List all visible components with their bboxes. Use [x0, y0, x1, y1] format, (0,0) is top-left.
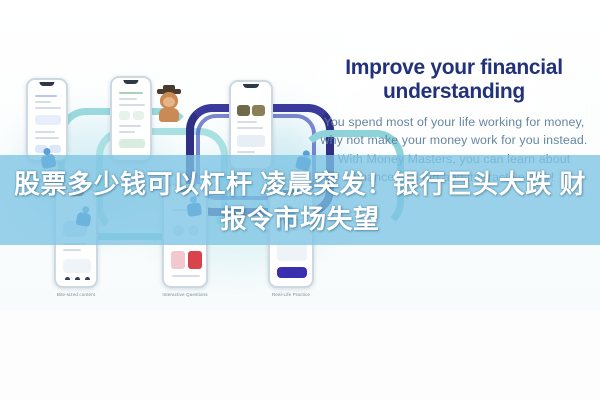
headline-line-1: 股票多少钱可以杠杆 凌晨突发！银行巨头大跌 财 [14, 167, 586, 202]
phone-screen [234, 91, 268, 162]
phone-notch [123, 80, 138, 84]
feature-caption-1: Bite-sized content [34, 292, 118, 297]
graduate-mascot-icon [156, 84, 182, 120]
screenshot-root: Bite-sized content Interactive Questions… [0, 0, 600, 400]
feature-caption-2: Interactive Questions [142, 292, 228, 297]
headline-line-2: 报令市场失望 [220, 202, 379, 237]
phone-screen [115, 87, 147, 154]
promo-title: Improve your financial understanding [318, 56, 590, 104]
feature-caption-3: Real-Life Practice [248, 292, 334, 297]
phone-screen [31, 89, 63, 154]
headline: 股票多少钱可以杠杆 凌晨突发！银行巨头大跌 财 报令市场失望 [0, 156, 600, 248]
phone-notch [243, 84, 259, 88]
footer-whitespace [0, 310, 600, 400]
phone-mockup-top-center [110, 76, 152, 162]
phone-notch [39, 82, 54, 86]
